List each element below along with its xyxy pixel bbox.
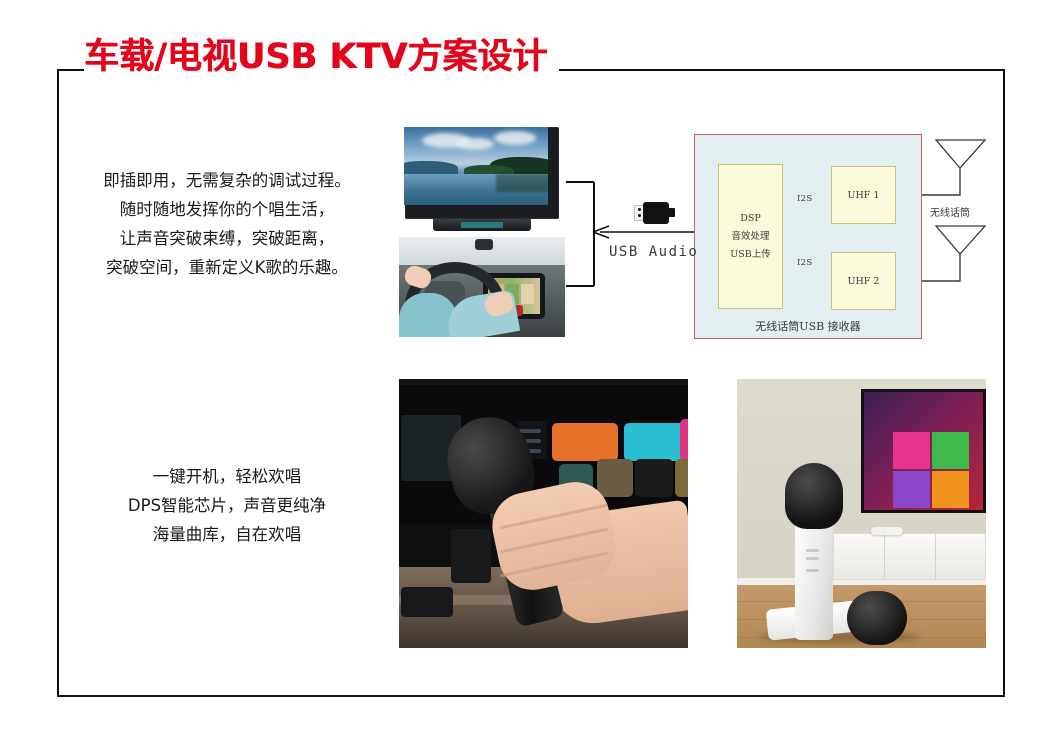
uhf1-label: UHF 1	[848, 190, 880, 201]
features-bottom-paragraph: 一键开机，轻松欢唱 DPS智能芯片，声音更纯净 海量曲库，自在欢唱	[72, 462, 382, 549]
feature-line: 一键开机，轻松欢唱	[72, 462, 382, 491]
microphones-living-room-photo	[737, 379, 986, 648]
usb-plug-icon	[630, 200, 674, 226]
tv-tile	[932, 432, 969, 469]
rearview-mirror	[475, 239, 493, 250]
tv-tile	[932, 471, 969, 508]
microphone-foam-head	[785, 463, 843, 529]
car-interior-photo	[399, 237, 565, 337]
tv-tile	[893, 432, 930, 469]
media-cabinet	[833, 533, 986, 580]
dsp-line: DSP	[740, 210, 761, 228]
feature-line: 随时随地发挥你的个唱生活，	[72, 195, 382, 224]
page-title: 车载/电视USB KTV方案设计	[84, 38, 559, 77]
tv-stand-accent	[461, 222, 503, 228]
uhf2-block: UHF 2	[831, 252, 896, 310]
feature-line: 让声音突破束缚，突破距离，	[72, 224, 382, 253]
microphone-foam-head	[847, 591, 907, 645]
uhf1-block: UHF 1	[831, 166, 896, 224]
remote-control	[871, 527, 903, 535]
tv-screen	[404, 127, 548, 205]
microphone-body	[795, 522, 833, 640]
feature-line: 即插即用，无需复杂的调试过程。	[72, 166, 382, 195]
wireless-mic-label: 无线话筒	[930, 204, 970, 219]
mic-in-car-photo	[399, 379, 688, 648]
feature-line: 突破空间，重新定义K歌的乐趣。	[72, 253, 382, 282]
receiver-caption: 无线话筒USB 接收器	[694, 318, 922, 334]
feature-line: 海量曲库，自在欢唱	[72, 520, 382, 549]
usb-audio-label: USB Audio	[609, 244, 698, 260]
tv-photo	[399, 123, 565, 235]
dsp-line: 音效处理	[731, 228, 769, 246]
tv-tile	[893, 471, 930, 508]
dsp-block: DSP 音效处理 USB上传	[718, 164, 783, 309]
dsp-line: USB上传	[730, 246, 771, 264]
feature-line: DPS智能芯片，声音更纯净	[72, 491, 382, 520]
uhf2-label: UHF 2	[848, 276, 880, 287]
i2s-bus-label: I2S	[797, 194, 813, 204]
i2s-bus-label: I2S	[797, 258, 813, 268]
features-top-paragraph: 即插即用，无需复杂的调试过程。 随时随地发挥你的个唱生活， 让声音突破束缚，突破…	[72, 166, 382, 282]
